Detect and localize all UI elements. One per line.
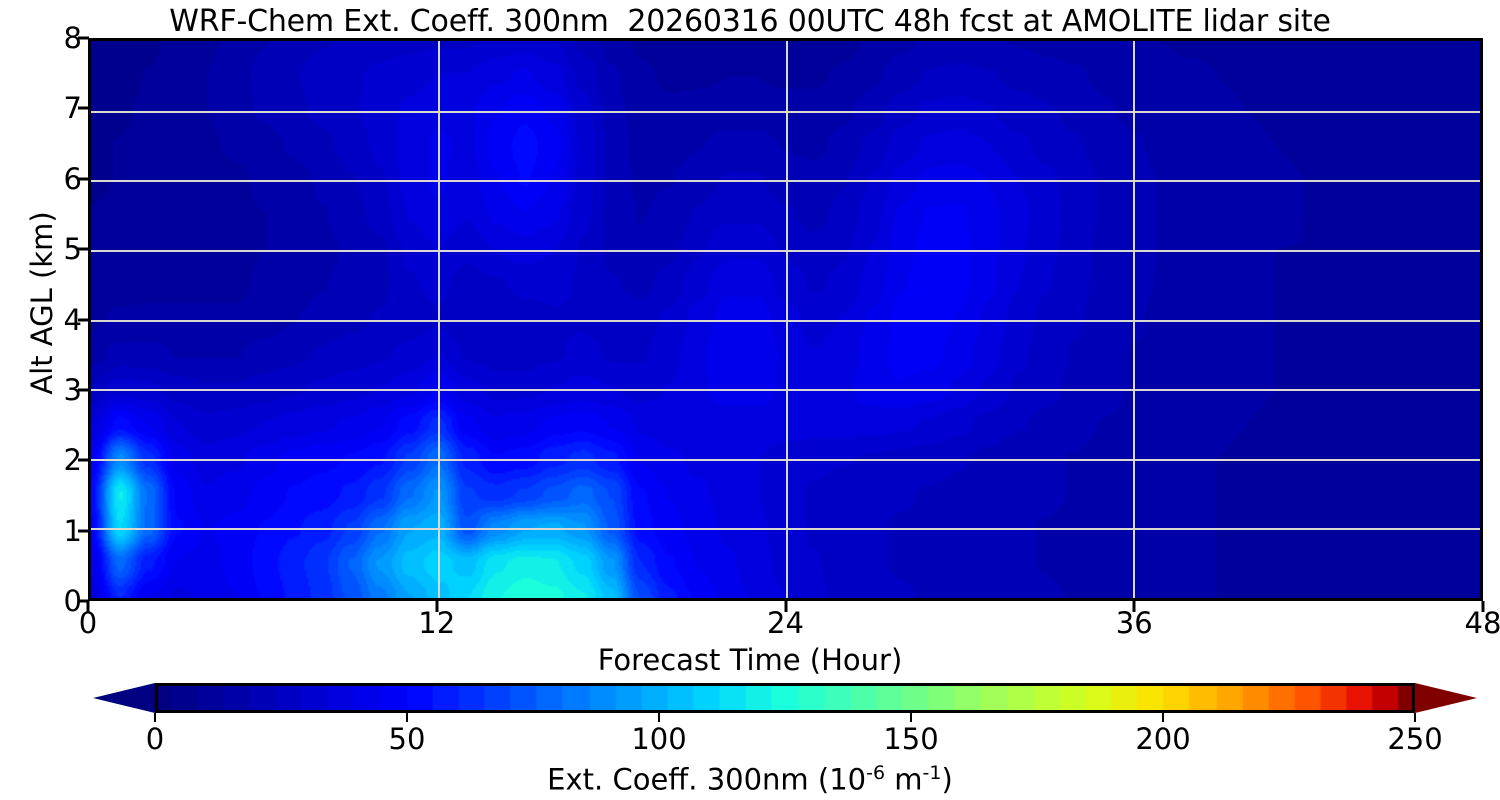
- extinction-coefficient-field: [91, 41, 1480, 598]
- colorbar-tick-mark: [1414, 713, 1416, 722]
- y-tick-label: 1: [22, 514, 82, 548]
- y-tick-mark: [78, 459, 89, 462]
- y-tick-label: 8: [22, 21, 82, 55]
- colorbar-tick-mark: [1162, 713, 1164, 722]
- colorbar-tick-mark: [658, 713, 660, 722]
- colorbar-gradient-canvas: [158, 686, 1412, 710]
- x-tick-mark: [435, 601, 438, 612]
- colorbar-tick-mark: [406, 713, 408, 722]
- colorbar-tick-label: 100: [631, 722, 686, 756]
- colorbar-label-exponent-2: -1: [923, 762, 942, 784]
- colorbar-tick-mark: [910, 713, 912, 722]
- colorbar-label-exponent-1: -6: [866, 762, 885, 784]
- y-tick-mark: [78, 177, 89, 180]
- y-tick-mark: [78, 37, 89, 40]
- colorbar-max-extend-arrow: [1415, 683, 1477, 713]
- y-tick-mark: [78, 318, 89, 321]
- x-tick-mark: [87, 601, 90, 612]
- y-axis-label: Alt AGL (km): [25, 103, 59, 503]
- page-title: WRF-Chem Ext. Coeff. 300nm 20260316 00UT…: [0, 4, 1500, 39]
- y-tick-mark: [78, 388, 89, 391]
- y-tick-label: 0: [22, 584, 82, 618]
- colorbar-label-end: ): [942, 763, 953, 797]
- colorbar-tick-label: 250: [1387, 722, 1442, 756]
- colorbar-label: Ext. Coeff. 300nm (10-6 m-1): [0, 762, 1500, 797]
- colorbar-label-text: Ext. Coeff. 300nm (10: [547, 763, 866, 797]
- y-tick-mark: [78, 529, 89, 532]
- colorbar-tick-mark: [154, 713, 156, 722]
- heatmap-plot-area: [88, 38, 1483, 601]
- colorbar-gradient-bar: [155, 683, 1415, 713]
- x-tick-mark: [1482, 601, 1485, 612]
- colorbar: 050100150200250 Ext. Coeff. 300nm (10-6 …: [0, 680, 1500, 800]
- x-axis-label: Forecast Time (Hour): [0, 643, 1500, 677]
- colorbar-tick-label: 0: [146, 722, 164, 756]
- colorbar-min-extend-arrow: [93, 683, 155, 713]
- x-tick-mark: [1133, 601, 1136, 612]
- colorbar-label-mid: m: [885, 763, 922, 797]
- colorbar-tick-label: 50: [389, 722, 426, 756]
- y-tick-mark: [78, 248, 89, 251]
- y-tick-mark: [78, 107, 89, 110]
- x-tick-mark: [784, 601, 787, 612]
- colorbar-tick-label: 150: [883, 722, 938, 756]
- colorbar-tick-label: 200: [1135, 722, 1190, 756]
- figure-canvas: WRF-Chem Ext. Coeff. 300nm 20260316 00UT…: [0, 0, 1500, 800]
